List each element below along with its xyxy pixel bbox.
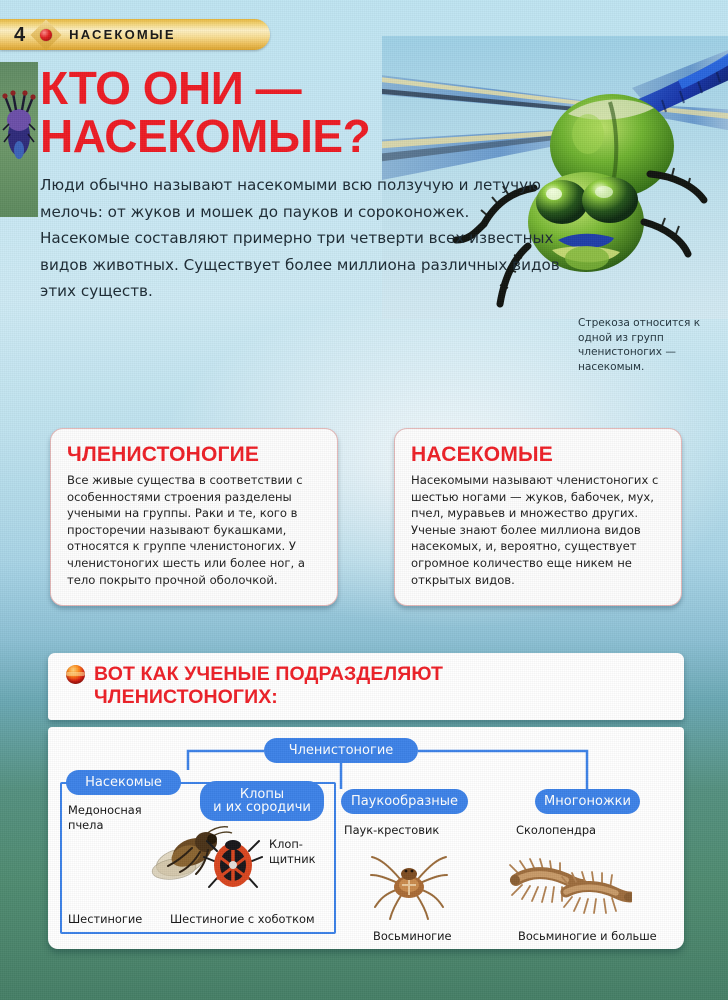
infobox-arthropods-title: ЧЛЕНИСТОНОГИЕ [67, 443, 321, 467]
diagram-node-myriapods[interactable]: Многоножки [535, 789, 640, 814]
classification-diagram-panel: Членистоногие Насекомые Клопы и их сород… [48, 727, 684, 949]
diagram-node-bugs[interactable]: Клопы и их сородичи [200, 781, 324, 821]
caption-eight-or-more: Восьминогие и больше [518, 929, 657, 944]
infobox-insects-title: НАСЕКОМЫЕ [411, 443, 665, 467]
section-header-line1: ВОТ КАК УЧЕНЫЕ ПОДРАЗДЕЛЯЮТ [94, 663, 443, 685]
encyclopedia-page: 4 НАСЕКОМЫЕ КТО ОНИ — НАСЕКОМЫЕ? [0, 0, 728, 1000]
running-head: 4 НАСЕКОМЫЕ [0, 19, 270, 50]
infobox-arthropods: ЧЛЕНИСТОНОГИЕ Все живые существа в соотв… [50, 428, 338, 606]
specimen-label-spider: Паук-крестовик [344, 823, 474, 838]
specimen-label-shieldbug: Клоп-щитник [269, 837, 331, 866]
insect-thumbnail-photo [0, 62, 38, 217]
page-title: КТО ОНИ — НАСЕКОМЫЕ? [40, 64, 470, 160]
infobox-arthropods-body: Все живые существа в соответствии с особ… [67, 472, 321, 588]
diagram-node-arachnids[interactable]: Паукообразные [341, 789, 468, 814]
section-header-title: ВОТ КАК УЧЕНЫЕ ПОДРАЗДЕЛЯЮТ ЧЛЕНИСТОНОГИ… [94, 663, 443, 709]
section-header-panel: ВОТ КАК УЧЕНЫЕ ПОДРАЗДЕЛЯЮТ ЧЛЕНИСТОНОГИ… [48, 653, 684, 720]
centipede-illustration [508, 849, 632, 923]
infobox-insects: НАСЕКОМЫЕ Насекомыми называют членистоно… [394, 428, 682, 606]
diamond-compass-icon [33, 22, 59, 48]
caption-eight-legs: Восьминогие [373, 929, 452, 944]
spider-illustration [370, 849, 448, 921]
classification-diagram: Членистоногие Насекомые Клопы и их сород… [48, 727, 684, 949]
red-sphere-bullet-icon [66, 665, 85, 684]
photo-caption: Стрекоза относится к одной из групп член… [578, 316, 718, 374]
page-title-line1: КТО ОНИ — [40, 64, 470, 112]
diagram-node-arthropods[interactable]: Членистоногие [264, 738, 418, 763]
caption-six-legs-proboscis: Шестиногие с хоботком [170, 912, 315, 927]
intro-paragraph: Люди обычно называют насекомыми всю полз… [40, 172, 560, 305]
diagram-node-insects[interactable]: Насекомые [66, 770, 181, 795]
section-header-line2: ЧЛЕНИСТОНОГИХ: [94, 686, 278, 708]
diagram-node-bugs-line2: и их сородичи [213, 800, 311, 815]
running-head-title: НАСЕКОМЫЕ [69, 27, 176, 42]
caption-six-legs: Шестиногие [68, 912, 142, 927]
beetle-illustration [2, 90, 36, 162]
infobox-insects-body: Насекомыми называют членистоногих с шест… [411, 472, 665, 588]
specimen-label-centipede: Сколопендра [516, 823, 636, 838]
page-title-line2: НАСЕКОМЫЕ? [40, 112, 470, 160]
shieldbug-illustration [203, 835, 263, 893]
page-number: 4 [14, 25, 25, 45]
